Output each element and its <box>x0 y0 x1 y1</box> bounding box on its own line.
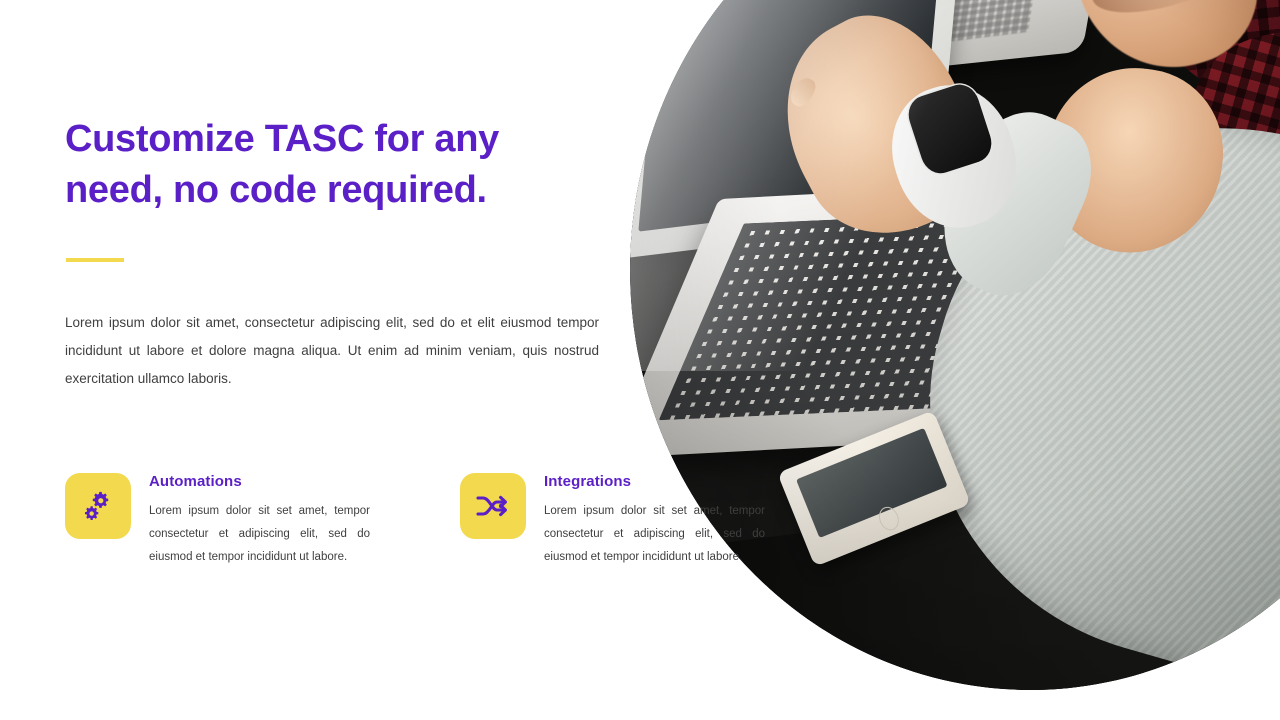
shuffle-icon <box>475 491 511 521</box>
feature-card-automations[interactable]: Automations Lorem ipsum dolor sit set am… <box>65 473 370 569</box>
hero-photo-image <box>630 0 1280 690</box>
feature-card-body: Integrations Lorem ipsum dolor sit set a… <box>544 473 765 569</box>
hero-photo <box>630 0 1280 690</box>
feature-card-body: Automations Lorem ipsum dolor sit set am… <box>149 473 370 569</box>
text-column: Customize TASC for any need, no code req… <box>65 0 625 720</box>
gears-icon-tile <box>65 473 131 539</box>
index-finger <box>787 74 818 110</box>
feature-card-text: Lorem ipsum dolor sit set amet, tempor c… <box>149 500 370 569</box>
slide-root: Customize TASC for any need, no code req… <box>0 0 1280 720</box>
intro-paragraph: Lorem ipsum dolor sit amet, consectetur … <box>65 309 599 393</box>
feature-card-integrations[interactable]: Integrations Lorem ipsum dolor sit set a… <box>460 473 765 569</box>
feature-card-title: Integrations <box>544 473 765 490</box>
shuffle-icon-tile <box>460 473 526 539</box>
feature-card-title: Automations <box>149 473 370 490</box>
gears-icon <box>81 489 115 523</box>
feature-card-list: Automations Lorem ipsum dolor sit set am… <box>65 473 765 569</box>
title-divider <box>66 258 124 262</box>
feature-card-text: Lorem ipsum dolor sit set amet, tempor c… <box>544 500 765 569</box>
page-title: Customize TASC for any need, no code req… <box>65 114 565 216</box>
photo-scene <box>630 0 1280 690</box>
